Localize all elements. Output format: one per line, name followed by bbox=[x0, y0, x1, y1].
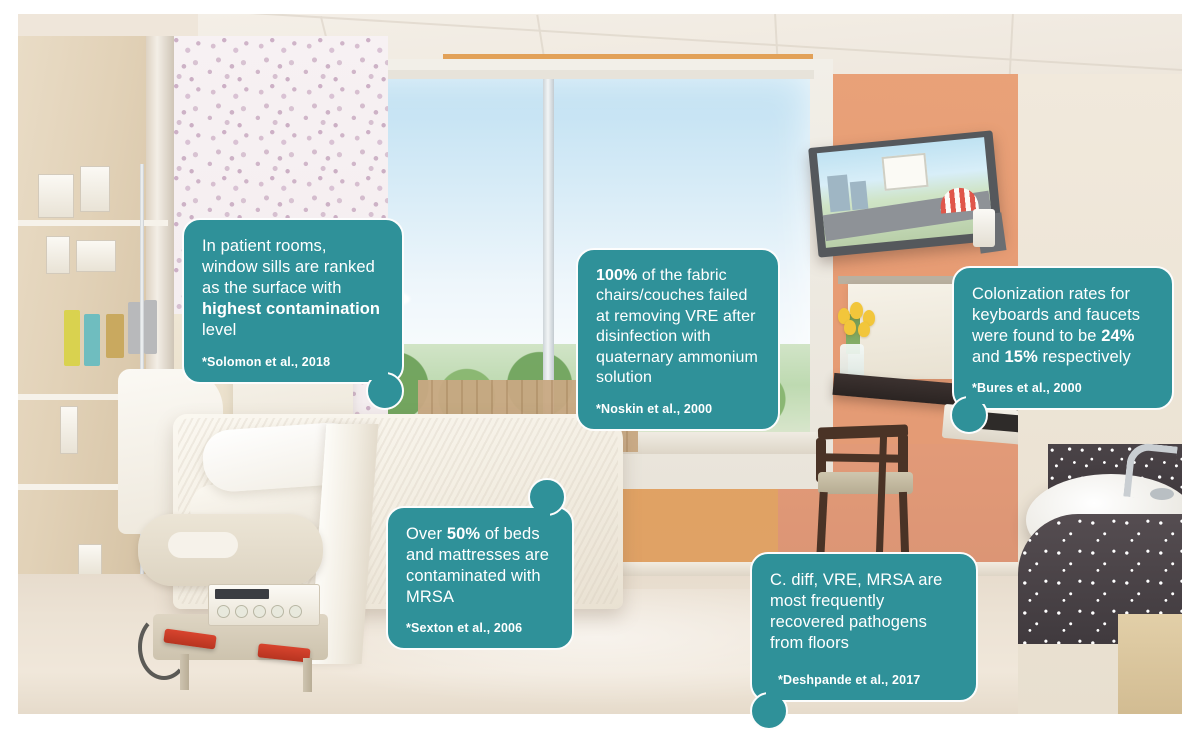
bed-rail-cutout bbox=[168, 532, 238, 558]
gas-outlet-air bbox=[64, 310, 80, 366]
callout-window-sills-text: In patient rooms, window sills are ranke… bbox=[202, 236, 384, 342]
callout-keyboards-faucets: Colonization rates for keyboards and fau… bbox=[952, 266, 1174, 410]
callout-tail bbox=[366, 372, 404, 410]
gas-outlet-oxygen bbox=[84, 314, 100, 366]
bed-panel-button-2[interactable] bbox=[235, 605, 248, 618]
headwall-rail-upper bbox=[18, 220, 168, 226]
callout-floors-pathogens-citation: *Deshpande et al., 2017 bbox=[770, 672, 958, 688]
callout-window-sills: In patient rooms, window sills are ranke… bbox=[182, 218, 404, 384]
headwall-panel-a bbox=[38, 174, 74, 218]
callout-fabric-chairs-citation: *Noskin et al., 2000 bbox=[596, 401, 760, 417]
tv-billboard bbox=[881, 153, 928, 191]
bed-panel-button-3[interactable] bbox=[253, 605, 266, 618]
headwall-panel-b bbox=[80, 166, 110, 212]
tulip-bloom-4 bbox=[844, 320, 856, 335]
bed-leg-right bbox=[303, 658, 312, 692]
bed-leg-left bbox=[180, 654, 189, 690]
callout-beds-mattresses: Over 50% of beds and mattresses are cont… bbox=[386, 506, 574, 650]
callout-keyboards-faucets-text: Colonization rates for keyboards and fau… bbox=[972, 284, 1154, 368]
callout-beds-mattresses-citation: *Sexton et al., 2006 bbox=[406, 620, 554, 636]
callout-fabric-chairs: 100% of the fabric chairs/couches failed… bbox=[576, 248, 780, 431]
headwall-outlet bbox=[60, 406, 78, 454]
flowmeter-b bbox=[144, 300, 157, 354]
television-screen bbox=[817, 137, 993, 248]
callout-keyboards-faucets-citation: *Bures et al., 2000 bbox=[972, 380, 1154, 396]
bed-panel-button-4[interactable] bbox=[271, 605, 284, 618]
callout-floors-pathogens-text: C. diff, VRE, MRSA are most frequently r… bbox=[770, 570, 958, 654]
sink-cabinet bbox=[1118, 614, 1182, 714]
headwall-switch-plate bbox=[46, 236, 70, 274]
callout-window-sills-citation: *Solomon et al., 2018 bbox=[202, 354, 384, 370]
callout-floors-pathogens: C. diff, VRE, MRSA are most frequently r… bbox=[750, 552, 978, 702]
faucet-base bbox=[1150, 488, 1174, 500]
callout-beds-mattresses-text: Over 50% of beds and mattresses are cont… bbox=[406, 524, 554, 608]
tulip-bloom-2 bbox=[850, 302, 863, 319]
callout-tail bbox=[528, 478, 566, 516]
bed-panel-button-1[interactable] bbox=[217, 605, 230, 618]
chair-arm-rail bbox=[816, 453, 908, 463]
callout-tail bbox=[750, 692, 788, 730]
infographic-canvas: In patient rooms, window sills are ranke… bbox=[0, 0, 1200, 742]
callout-fabric-chairs-text: 100% of the fabric chairs/couches failed… bbox=[596, 266, 760, 389]
bed-panel-display bbox=[215, 589, 269, 599]
chair-seat bbox=[818, 472, 913, 494]
bed-panel-button-5[interactable] bbox=[289, 605, 302, 618]
headwall-monitor bbox=[76, 240, 116, 272]
gas-regulator-a bbox=[106, 314, 124, 358]
bed-control-panel[interactable] bbox=[208, 584, 320, 626]
tulip-bloom-5 bbox=[858, 322, 870, 337]
sanitizer-dispenser[interactable] bbox=[973, 209, 995, 247]
headwall-plate-lower bbox=[78, 544, 102, 576]
